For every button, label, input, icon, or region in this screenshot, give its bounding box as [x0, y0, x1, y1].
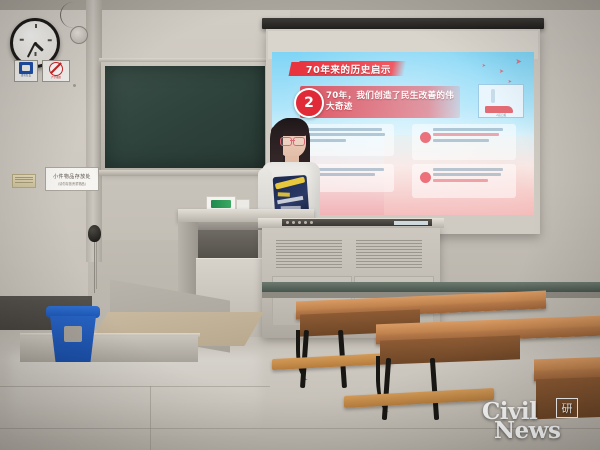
wall-corner-column — [86, 0, 102, 262]
storage-notice-sign: 小件物品存放处 （请勿存放贵重物品） — [45, 167, 99, 191]
plastic-stool — [46, 306, 100, 364]
watermark-badge: 研 — [556, 398, 578, 418]
microphone-stand — [94, 241, 96, 293]
glasses-icon — [280, 137, 305, 144]
slide-subtitle: 70年，我们创造了民生改善的伟大奇迹 — [326, 91, 460, 114]
bird-icon: ➤ — [499, 68, 504, 76]
no-smoking-icon — [49, 62, 63, 76]
blackboard-surface — [105, 66, 265, 168]
console-button[interactable] — [310, 221, 313, 224]
bird-icon: ➤ — [482, 62, 486, 70]
console-display — [394, 221, 428, 225]
slide-title-banner: 70年来的历史启示 — [290, 61, 405, 76]
storage-sign-title: 小件物品存放处 — [53, 173, 91, 180]
blue-sign-caption: 请勿乱丢 — [21, 74, 31, 77]
ceiling-cable — [60, 2, 87, 28]
console-vent — [276, 240, 342, 270]
console-button[interactable] — [292, 221, 295, 224]
wall-poster — [12, 174, 36, 188]
classroom-photo: 请勿乱丢 严禁吸烟 小件物品存放处 （请勿存放贵重物品） ➤ ➤ ➤ ➤ 70年… — [0, 0, 600, 450]
slide-text-block-4 — [412, 164, 516, 198]
no-smoking-sign: 严禁吸烟 — [42, 60, 70, 82]
slide-photo-caption: 人民日报 — [479, 113, 523, 117]
watermark-line2: News — [494, 417, 560, 444]
console-control-panel[interactable] — [282, 219, 432, 226]
console-vent — [356, 240, 422, 270]
console-button[interactable] — [304, 221, 307, 224]
wall-screw — [73, 84, 76, 87]
watermark-logo: Civil News 研 — [482, 398, 594, 446]
front-desk-ledge — [262, 282, 600, 292]
floor-tile-line — [150, 386, 151, 450]
presenter — [256, 112, 330, 218]
console-button[interactable] — [286, 221, 289, 224]
slide-photo-thumbnail: 人民日报 — [478, 84, 524, 118]
slide-text-block-2 — [412, 124, 516, 160]
microphone-stand — [96, 241, 97, 289]
microphone-icon — [88, 225, 101, 242]
presenter-arm — [258, 168, 272, 214]
bird-icon: ➤ — [515, 58, 522, 66]
floor-tile-line — [0, 386, 270, 387]
chalk-rail — [99, 170, 273, 176]
console-button[interactable] — [298, 221, 301, 224]
ceiling-sensor-icon — [70, 26, 88, 44]
projector-screen-housing — [262, 18, 544, 29]
slide-title: 70年来的历史启示 — [306, 62, 391, 76]
no-smoking-caption: 严禁吸烟 — [51, 76, 61, 79]
blue-notice-sign: 请勿乱丢 — [14, 60, 38, 82]
storage-sign-subtitle: （请勿存放贵重物品） — [56, 181, 88, 186]
blackboard — [101, 62, 269, 172]
